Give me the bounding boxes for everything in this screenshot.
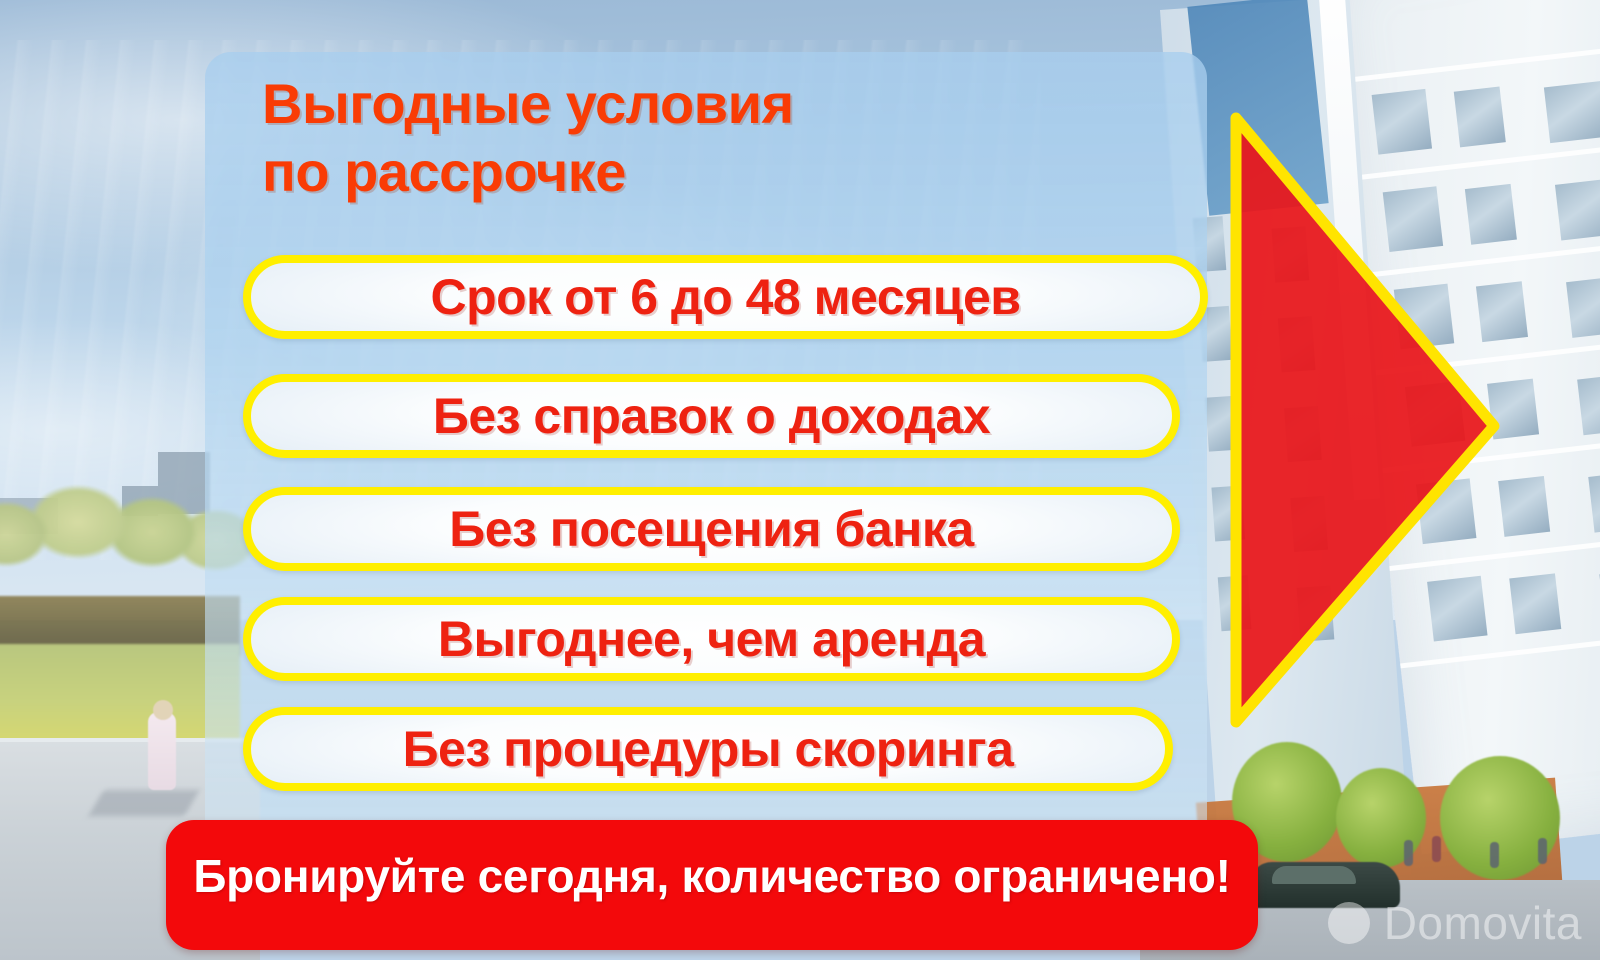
feature-pill-label: Без посещения банка — [449, 500, 973, 558]
feature-pill: Выгоднее, чем аренда — [243, 597, 1180, 681]
promo-banner: Выгодные условия по рассрочке Срок от 6 … — [0, 0, 1600, 960]
child-figure — [148, 712, 176, 790]
lawn — [0, 644, 240, 748]
page-title: Выгодные условия по рассрочке — [262, 70, 1162, 207]
feature-pill: Без посещения банка — [243, 487, 1180, 571]
feature-pill: Без процедуры скоринга — [243, 707, 1173, 791]
pedestrian — [1404, 840, 1413, 866]
feature-pill-label: Выгоднее, чем аренда — [438, 610, 985, 668]
feature-pill: Без справок о доходах — [243, 374, 1180, 458]
feature-pill: Срок от 6 до 48 месяцев — [243, 255, 1208, 339]
pedestrian — [1490, 842, 1499, 868]
car-window — [1272, 866, 1356, 884]
cta-banner[interactable]: Бронируйте сегодня, количество ограничен… — [166, 820, 1258, 950]
child-shadow — [88, 790, 199, 816]
cta-label: Бронируйте сегодня, количество ограничен… — [193, 849, 1230, 903]
pedestrian — [1432, 836, 1441, 862]
feature-pill-label: Без справок о доходах — [433, 387, 990, 445]
feature-pill-label: Без процедуры скоринга — [403, 720, 1014, 778]
red-arrow-icon — [1222, 104, 1508, 736]
pedestrian — [1538, 838, 1547, 864]
child-head — [153, 700, 173, 720]
feature-pill-label: Срок от 6 до 48 месяцев — [430, 268, 1020, 326]
